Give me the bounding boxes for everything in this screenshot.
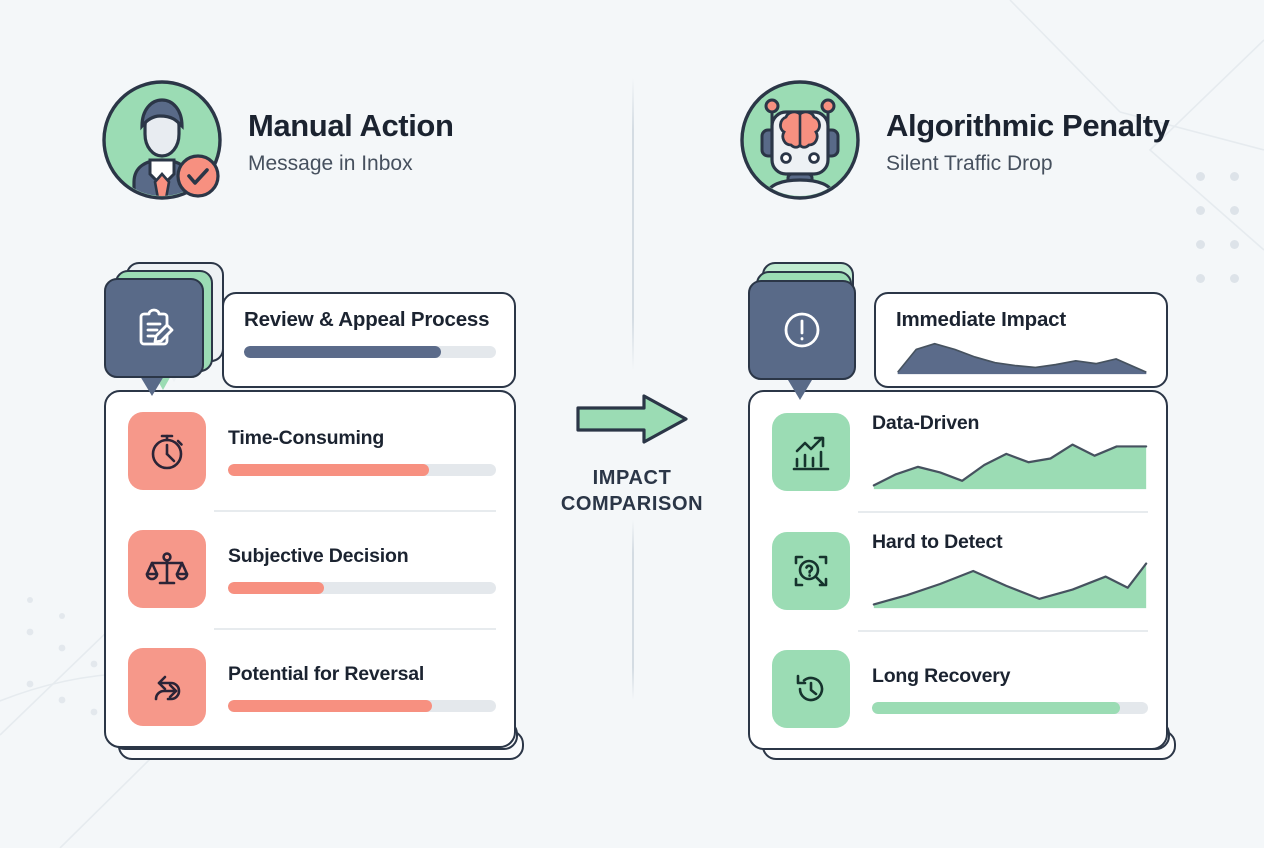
list-item-label: Hard to Detect	[872, 531, 1148, 554]
progress-fill	[228, 464, 429, 476]
left-panel: Time-Consuming Su	[104, 262, 516, 772]
progress-bar	[228, 464, 496, 476]
progress-fill	[872, 702, 1120, 714]
list-item[interactable]: Data-Driven	[750, 392, 1166, 511]
progress-bar	[228, 700, 496, 712]
exclamation-circle-icon	[748, 280, 856, 380]
right-header-title: Algorithmic Penalty	[886, 109, 1170, 143]
right-card-header[interactable]: Immediate Impact	[874, 292, 1168, 388]
right-header-chip	[748, 262, 870, 390]
left-card-header-title: Review & Appeal Process	[244, 308, 496, 332]
right-body-card: Data-Driven	[748, 390, 1168, 750]
left-header-chip	[104, 262, 226, 390]
clipboard-pencil-icon	[104, 278, 204, 378]
list-item[interactable]: Long Recovery	[750, 630, 1166, 748]
right-card-header-title: Immediate Impact	[896, 308, 1148, 332]
arrow-right-icon	[574, 392, 690, 448]
left-card-header[interactable]: Review & Appeal Process	[222, 292, 516, 388]
center-comparison: IMPACT COMPARISON	[533, 392, 731, 517]
list-item-label: Subjective Decision	[228, 545, 496, 568]
user-avatar-icon	[100, 78, 224, 202]
right-header-subtitle: Silent Traffic Drop	[886, 152, 1170, 175]
list-item[interactable]: Subjective Decision	[106, 510, 514, 628]
list-item-label: Potential for Reversal	[228, 663, 496, 686]
vertical-divider-top	[632, 78, 634, 370]
clock-rewind-icon	[772, 650, 850, 728]
list-item[interactable]: Time-Consuming	[106, 392, 514, 510]
infographic-canvas: Manual Action Message in Inbox	[0, 0, 1264, 848]
undo-reverse-icon	[128, 648, 206, 726]
center-label-line1: IMPACT	[533, 466, 731, 492]
left-body-card: Time-Consuming Su	[104, 390, 516, 748]
list-item-label: Data-Driven	[872, 412, 1148, 435]
scan-question-icon	[772, 532, 850, 610]
list-item-label: Time-Consuming	[228, 427, 496, 450]
sparkline-data-driven	[872, 439, 1148, 491]
left-header-title: Manual Action	[248, 109, 454, 143]
progress-fill	[228, 700, 432, 712]
scales-balance-icon	[128, 530, 206, 608]
stopwatch-icon	[128, 412, 206, 490]
left-header-subtitle: Message in Inbox	[248, 152, 454, 175]
progress-fill	[244, 346, 441, 358]
right-panel: Data-Driven	[748, 262, 1168, 772]
list-item[interactable]: Potential for Reversal	[106, 628, 514, 746]
sparkline-immediate-impact	[896, 338, 1148, 376]
robot-brain-icon	[738, 78, 862, 202]
progress-bar	[244, 346, 496, 358]
progress-bar	[872, 702, 1148, 714]
list-item-label: Long Recovery	[872, 665, 1148, 688]
center-label-line2: COMPARISON	[533, 492, 731, 518]
check-badge-icon	[178, 156, 218, 196]
left-header: Manual Action Message in Inbox	[100, 78, 454, 202]
list-item[interactable]: Hard to Detect	[750, 511, 1166, 630]
vertical-divider-bottom	[632, 520, 634, 700]
progress-fill	[228, 582, 324, 594]
center-label: IMPACT COMPARISON	[533, 466, 731, 517]
progress-bar	[228, 582, 496, 594]
sparkline-hard-to-detect	[872, 558, 1148, 610]
bar-chart-trend-icon	[772, 413, 850, 491]
right-header: Algorithmic Penalty Silent Traffic Drop	[738, 78, 1170, 202]
